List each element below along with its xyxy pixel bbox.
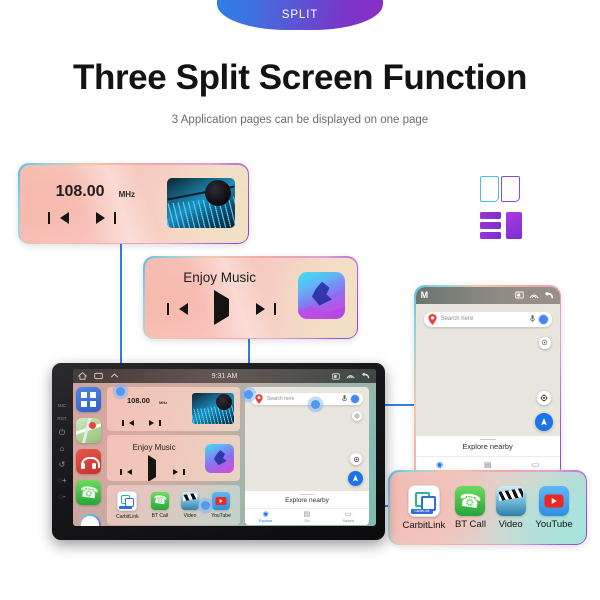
go-icon: ▤ (464, 460, 512, 469)
locate-icon (540, 394, 548, 402)
music-album-art (298, 272, 345, 319)
bezel-rst-label[interactable]: RST (57, 416, 66, 421)
hu-dock-app-youtube[interactable]: YouTube (211, 492, 231, 519)
carbitlink-icon: CarbitLink (408, 485, 440, 517)
radio-prev-button[interactable] (60, 211, 69, 229)
hu-maps-search-placeholder: Search here (267, 396, 294, 402)
dock-app-label: Video (499, 519, 523, 530)
hu-maps-bottom-sheet[interactable]: Explore nearby (245, 491, 369, 509)
wifi-icon[interactable] (529, 291, 539, 300)
play-icon (148, 455, 156, 481)
locate-icon (353, 456, 360, 463)
music-callout-card[interactable]: Enjoy Music (143, 256, 358, 339)
headphone-ear-left (81, 463, 85, 469)
dock-app-bt-call[interactable]: ☎ BT Call (455, 486, 486, 530)
art-disc (205, 180, 231, 206)
maps-layers-button[interactable] (539, 337, 551, 349)
maps-locate-button[interactable] (537, 391, 551, 405)
music-prev-button[interactable] (179, 302, 188, 320)
pane-left (480, 176, 499, 202)
maps-search-placeholder: Search here (441, 316, 474, 322)
head-unit-music-panel[interactable]: Enjoy Music (107, 435, 240, 481)
maps-search-input[interactable]: Search here (424, 312, 552, 327)
maps-status-icons (515, 291, 555, 300)
dock-app-label: BT Call (455, 519, 486, 530)
ring-icon[interactable] (76, 511, 101, 526)
dock-app-youtube[interactable]: YouTube (535, 486, 572, 530)
head-unit-radio-panel[interactable]: 108.00 MHz (107, 387, 240, 431)
phone-icon: ☎ (151, 492, 169, 510)
page-subtitle: 3 Application pages can be displayed on … (0, 114, 600, 126)
maps-bottom-sheet[interactable]: Explore nearby (416, 436, 560, 457)
head-unit-maps-panel[interactable]: Search here Explore nearby (245, 387, 369, 525)
head-unit-dock-panel[interactable]: CarbitLink ☎ BT Call Video YouTube (107, 485, 240, 525)
dock-app-carbitlink[interactable]: CarbitLink CarbitLink (402, 485, 445, 531)
dock-app-label: CarbitLink (402, 520, 445, 531)
connector-dot-radio (116, 387, 125, 396)
hu-music-next-button[interactable] (173, 462, 178, 480)
music-title: Enjoy Music (145, 270, 295, 285)
sheet-grip[interactable] (300, 494, 314, 495)
two-pane-layout-icon (480, 176, 520, 202)
directions-icon (351, 474, 360, 483)
poster-stage: SPLIT Three Split Screen Function 3 Appl… (0, 0, 600, 600)
ring-shape (79, 514, 101, 526)
maps-app-initial: M (421, 290, 429, 300)
radio-callout-card[interactable]: 108.00 MHz (18, 163, 249, 244)
music-play-button[interactable] (214, 299, 229, 317)
hu-maps-sheet-label: Explore nearby (285, 497, 329, 504)
head-unit-app-rail: ☎ (76, 387, 104, 526)
clapperboard-icon (496, 486, 526, 516)
art-disc (216, 394, 232, 410)
hu-radio-album-art (192, 393, 234, 424)
hu-dock-app-label: YouTube (211, 513, 231, 519)
hu-maps-nav-saved[interactable]: ▭ Saved (328, 511, 369, 523)
home-icon[interactable]: ⌂ (60, 445, 65, 453)
hu-music-prev-button[interactable] (127, 462, 132, 480)
hu-dock-app-label: BT Call (152, 513, 168, 519)
hu-radio-frequency: 108.00 (127, 396, 150, 405)
maps-card-inner: M Search here (416, 287, 560, 477)
volume-up-icon[interactable]: ◌+ (57, 477, 66, 485)
pane-large (506, 212, 522, 239)
yt-play (220, 499, 223, 503)
pane-bar (480, 222, 501, 229)
dock-app-label: YouTube (535, 519, 572, 530)
head-unit-bezel-buttons: MIC RST ⏻ ⌂ ↺ ◌+ ◌- (52, 363, 72, 540)
hu-music-album-art (205, 444, 234, 473)
connector-dot-maps (311, 400, 320, 409)
back-icon[interactable] (544, 291, 555, 300)
carbit-tag: CarbitLink (411, 509, 433, 514)
maps-pin-icon (255, 394, 263, 404)
maps-callout-card[interactable]: M Search here (414, 285, 561, 478)
layers-icon (354, 413, 360, 419)
hu-maps-bottom-nav: ◉ Explore ▤ Go ▭ Saved (245, 508, 369, 525)
sheet-grip[interactable] (480, 439, 496, 441)
hu-dock-app-label: Video (184, 513, 197, 519)
prev-icon (127, 469, 132, 475)
maps-sheet-label: Explore nearby (462, 442, 512, 451)
hu-maps-search-tail (342, 394, 360, 404)
split-banner: SPLIT (217, 0, 383, 30)
split-banner-label: SPLIT (282, 9, 318, 21)
hu-maps-layers-button[interactable] (352, 411, 362, 421)
bezel-mic-label[interactable]: MIC (58, 403, 66, 408)
cast-icon[interactable] (515, 291, 524, 299)
dock-app-row: CarbitLink CarbitLink ☎ BT Call Video Yo… (390, 472, 586, 544)
maps-directions-button[interactable] (535, 413, 553, 431)
hu-maps-directions-button[interactable] (348, 471, 363, 486)
carbitlink-icon (117, 491, 137, 511)
hu-dock-app-label: CarbitLink (116, 514, 139, 520)
prev-icon (129, 420, 134, 426)
mic-icon[interactable] (530, 315, 535, 323)
hu-radio-unit: MHz (159, 400, 167, 405)
radio-frequency-unit: MHz (119, 190, 135, 199)
car-head-unit: MIC RST ⏻ ⌂ ↺ ◌+ ◌- 9:31 AM (52, 363, 385, 540)
phone-glyph: ☎ (152, 494, 167, 507)
map-pin (89, 422, 96, 429)
dock-app-video[interactable]: Video (496, 486, 526, 530)
hu-dock-app-video[interactable]: Video (181, 492, 199, 519)
phone-glyph: ☎ (78, 484, 99, 501)
apps-grid-icon[interactable] (76, 387, 101, 412)
volume-down-icon[interactable]: ◌- (58, 493, 65, 501)
maps-status-bar: M (416, 287, 560, 304)
art-figure (213, 450, 227, 465)
hu-dock-row: CarbitLink ☎ BT Call Video YouTube (107, 485, 240, 525)
hu-radio-prev-button[interactable] (129, 413, 134, 431)
hu-dock-app-carbitlink[interactable]: CarbitLink (116, 491, 139, 520)
account-avatar[interactable] (538, 314, 549, 325)
art-figure (311, 282, 333, 306)
next-icon (256, 303, 265, 315)
prev-icon (179, 303, 188, 315)
layers-icon (541, 339, 548, 346)
account-avatar[interactable] (350, 394, 360, 404)
head-unit-status-bar: 9:31 AM (73, 369, 376, 383)
youtube-icon (539, 486, 569, 516)
pane-right (501, 176, 520, 202)
play-icon (214, 290, 229, 325)
pane-bar (480, 232, 501, 239)
clap-top (499, 488, 523, 501)
hu-music-title: Enjoy Music (107, 443, 201, 452)
maps-search-tail (530, 314, 549, 325)
art-wave (298, 303, 345, 319)
pane-bar (480, 212, 501, 219)
clapperboard-icon (181, 492, 199, 510)
radio-frequency: 108.00 (56, 183, 105, 201)
hu-maps-nav-explore-label: Explore (259, 518, 273, 523)
youtube-icon (212, 492, 230, 510)
three-pane-layout-icon (480, 212, 522, 240)
hu-maps-search-input[interactable]: Search here (251, 393, 363, 405)
yt-play (552, 498, 557, 504)
phone-icon[interactable]: ☎ (76, 480, 101, 505)
hu-maps-nav-go[interactable]: ▤ Go (286, 511, 327, 523)
directions-icon (539, 417, 549, 427)
radio-card-inner: 108.00 MHz (20, 165, 248, 243)
headphone-ear-right (92, 463, 96, 469)
power-icon[interactable]: ⏻ (59, 429, 65, 437)
hu-dock-app-bt-call[interactable]: ☎ BT Call (151, 492, 169, 519)
next-icon (173, 469, 178, 475)
back-icon[interactable]: ↺ (59, 461, 66, 469)
phone-glyph: ☎ (458, 490, 483, 511)
connector-dot-dock (201, 501, 210, 510)
next-icon (96, 212, 105, 224)
layout-glyph-group (478, 176, 524, 242)
hu-maps-nav-explore[interactable]: ◉ Explore (245, 511, 286, 523)
saved-icon: ▭ (512, 460, 560, 469)
dock-callout-card[interactable]: CarbitLink CarbitLink ☎ BT Call Video Yo… (388, 470, 587, 545)
clap-top (183, 492, 197, 500)
hu-maps-locate-button[interactable] (350, 453, 362, 465)
music-card-inner: Enjoy Music (145, 258, 357, 338)
radio-album-art (167, 178, 235, 228)
hu-music-play-button[interactable] (148, 460, 156, 478)
explore-icon: ◉ (416, 460, 464, 469)
mic-icon[interactable] (342, 395, 347, 403)
hu-radio-next-button[interactable] (149, 413, 154, 431)
carbit-tag (119, 506, 132, 509)
next-icon (149, 420, 154, 426)
hu-maps-nav-go-label: Go (304, 518, 309, 523)
music-next-button[interactable] (256, 302, 265, 320)
head-unit-clock: 9:31 AM (73, 373, 376, 380)
phone-icon: ☎ (455, 486, 485, 516)
hu-maps-nav-saved-label: Saved (343, 518, 354, 523)
page-title: Three Split Screen Function (0, 58, 600, 98)
maps-icon[interactable] (76, 418, 101, 443)
connector-dot-music (244, 390, 253, 399)
maps-pin-icon (428, 314, 437, 325)
prev-icon (60, 212, 69, 224)
radio-next-button[interactable] (96, 211, 105, 229)
grid-dots (81, 392, 96, 407)
dock-card-inner: CarbitLink CarbitLink ☎ BT Call Video Yo… (390, 472, 586, 544)
music-icon[interactable] (76, 449, 101, 474)
